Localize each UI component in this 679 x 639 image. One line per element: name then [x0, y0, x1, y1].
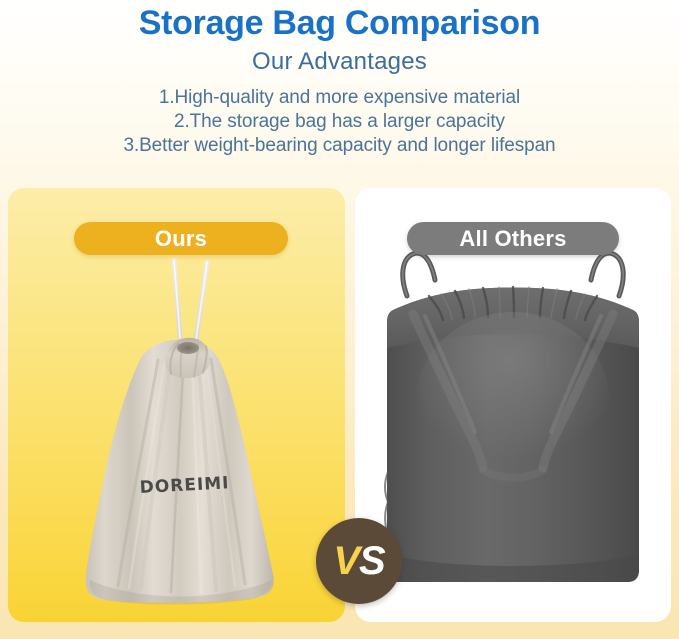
badge-ours-label: Ours — [155, 226, 207, 252]
vs-letter-v: V — [333, 539, 359, 583]
panel-others: All Others — [355, 188, 671, 622]
advantages-list: 1.High-quality and more expensive materi… — [0, 86, 679, 158]
comparison-section: DOREIMI Ours — [8, 188, 671, 622]
header: Storage Bag Comparison Our Advantages 1.… — [0, 0, 679, 158]
advantage-item: 2.The storage bag has a larger capacity — [0, 110, 679, 134]
vs-letter-s: S — [359, 539, 385, 583]
advantage-item: 1.High-quality and more expensive materi… — [0, 86, 679, 110]
panel-ours: DOREIMI Ours — [8, 188, 345, 622]
page-title: Storage Bag Comparison — [0, 2, 679, 44]
badge-ours: Ours — [74, 222, 288, 255]
badge-all-others: All Others — [407, 222, 619, 255]
page-subtitle: Our Advantages — [0, 48, 679, 76]
advantage-item: 3.Better weight-bearing capacity and lon… — [0, 134, 679, 158]
badge-all-others-label: All Others — [459, 226, 566, 252]
vs-badge: VS — [316, 518, 402, 604]
